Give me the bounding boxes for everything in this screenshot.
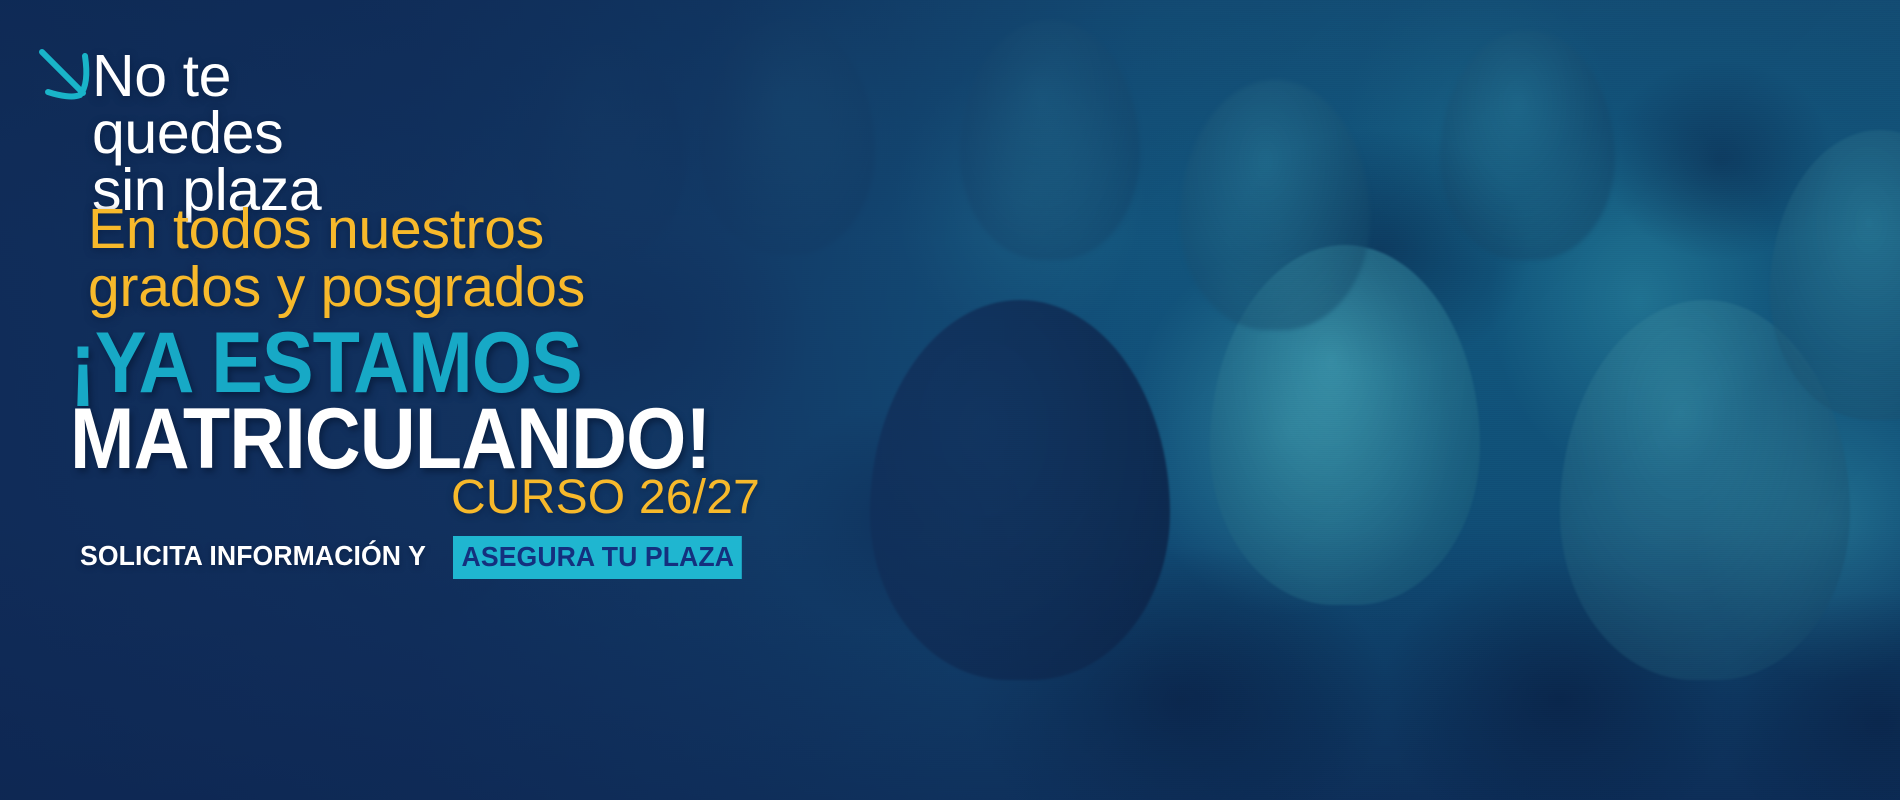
cta-highlight-text[interactable]: ASEGURA TU PLAZA bbox=[453, 536, 742, 579]
subheading-text: En todos nuestros grados y posgrados bbox=[88, 200, 788, 316]
banner-content: No te quedes sin plaza En todos nuestros… bbox=[0, 0, 900, 800]
headline-line-2: MATRICULANDO! bbox=[70, 402, 808, 478]
subheading-line-2: grados y posgrados bbox=[88, 258, 788, 316]
subheading-line-1: En todos nuestros bbox=[88, 200, 788, 258]
lead-text: No te quedes sin plaza bbox=[92, 48, 612, 220]
main-headline: ¡YA ESTAMOS MATRICULANDO! bbox=[70, 326, 890, 477]
lead-line-1: No te bbox=[92, 48, 612, 105]
course-year-label: CURSO 26/27 bbox=[70, 470, 760, 525]
lead-line-2: quedes bbox=[92, 105, 612, 162]
cta-plain-text: SOLICITA INFORMACIÓN Y bbox=[80, 536, 434, 579]
cta-line[interactable]: SOLICITA INFORMACIÓN Y ASEGURA TU PLAZA bbox=[80, 536, 757, 579]
enrollment-banner: No te quedes sin plaza En todos nuestros… bbox=[0, 0, 1900, 800]
